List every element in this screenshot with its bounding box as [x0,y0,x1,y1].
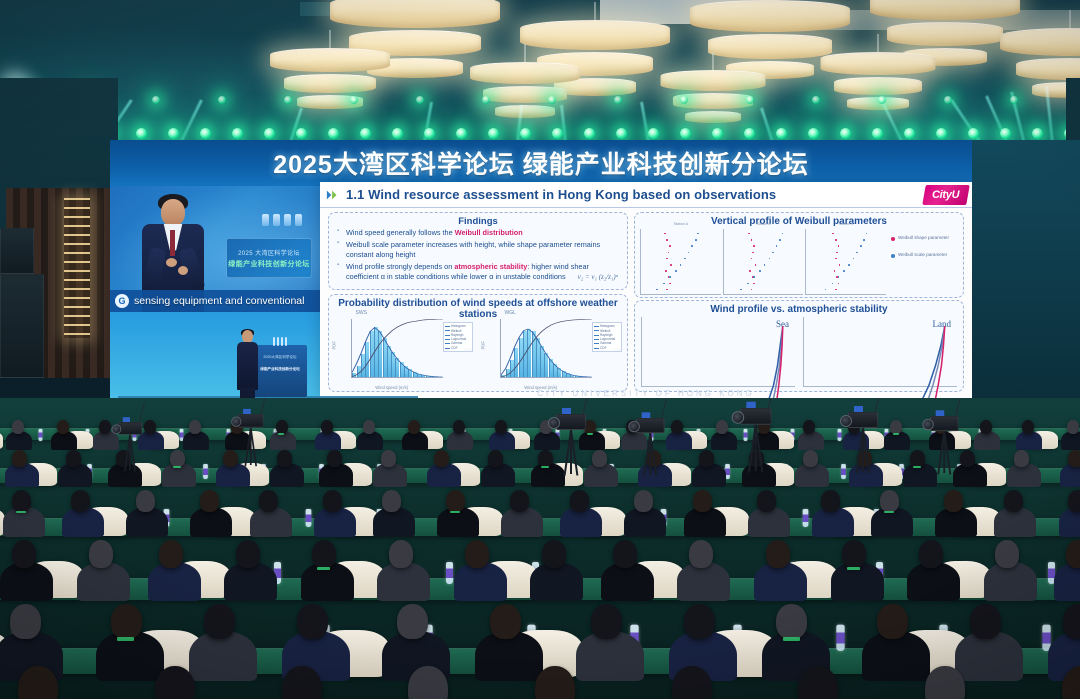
audience-head [919,540,943,568]
audience-head [12,450,27,467]
right-wall-panel [972,140,1080,402]
lanyard [913,466,921,468]
led-spot [520,128,531,139]
audience-head [189,420,201,434]
led-spot [284,96,292,104]
audience-head [276,420,288,434]
led-spot [296,128,307,139]
legend-marker-icon [891,254,895,258]
led-spot [680,96,688,104]
vprofile-subplot: Station C [805,229,886,295]
audience-head [99,420,111,434]
camera-body [740,408,772,425]
tripod-leg [943,431,945,473]
led-spot [482,96,490,104]
podium-microphones [273,337,287,346]
led-spot [232,128,243,139]
wind-shear-formula: v₂ = v₁ (z₂/z₁)ᵅ [578,272,619,282]
audience-head [1066,540,1080,568]
findings-title: Findings [329,216,627,227]
audience-head [877,604,908,639]
camera-channel-tag [854,406,863,412]
audience-head [297,604,328,639]
camera-lens-icon [231,417,241,427]
led-spot [584,128,595,139]
feed-forum-badge: 2025 大湾区科学论坛 绿能产业科技创新分论坛 [226,238,312,278]
feed-caption-text: sensing equipment and conventional [134,295,304,307]
lanyard [450,511,460,513]
tripod-leg [570,430,572,474]
audience-head [200,490,219,512]
data-point [751,258,753,260]
audience-head [980,420,992,434]
legend-marker-icon [891,237,895,241]
bullet-text: Wind speed generally follows the [346,228,455,237]
mic-boom [260,398,267,416]
vprofile-subplot: Station A [640,229,721,295]
data-point [669,283,671,285]
led-spot [264,128,275,139]
lanyard [847,567,860,570]
windstab-subplot-land: Land [803,317,957,387]
audience-head [1063,604,1080,639]
legend-line-icon [445,348,450,349]
camera-lens-icon [548,417,560,429]
led-spot [1032,128,1043,139]
led-spot [552,128,563,139]
audience-head [490,604,521,639]
led-spot [878,96,886,104]
audience-head [495,420,507,434]
audience-head [1022,420,1034,434]
legend-line-icon [445,343,450,344]
legend-entry: CDF [594,346,620,350]
prob-chart-label: SWS [356,310,367,316]
data-point [747,283,749,285]
led-spot [808,128,819,139]
audience-head [170,450,185,467]
mic-boom [139,402,145,424]
data-point [697,233,699,235]
data-point [834,270,836,272]
prob-chart-legend: HistogramWeibullRayleighLognormalGammaCD… [443,322,473,352]
camera-channel-tag [562,408,571,414]
led-spot [200,128,211,139]
audience-head [223,450,238,467]
audience-area [0,398,1080,699]
stage-speaker-torso [237,342,258,390]
vprofile-subplot: Station B [723,229,804,295]
audience-head [570,490,589,512]
data-point [664,233,666,235]
led-spot [968,128,979,139]
audience-head [321,420,333,434]
audience-head [282,666,322,699]
camera-channel-tag [746,402,755,408]
audience-head [591,604,622,639]
lanyard [783,637,800,641]
led-spot [350,96,358,104]
data-point [669,245,671,247]
data-point [748,233,750,235]
led-spot [1000,128,1011,139]
led-spot [614,96,622,104]
led-spot [392,128,403,139]
data-point [832,283,834,285]
data-point [772,252,774,254]
data-point [668,252,670,254]
findings-bullet-1: Wind speed generally follows the Weibull… [337,228,621,239]
lanyard [173,466,181,468]
audience-head [766,540,790,568]
audience-head [312,540,336,568]
data-point [666,258,668,260]
windstab-title: Wind profile vs. atmospheric stability [635,304,963,315]
windstab-subplot-sea: Sea [641,317,795,387]
bullet-text: Weibull scale parameter increases with h… [346,240,600,260]
camera-body [930,416,959,431]
camera-lens-icon [922,419,933,430]
led-spot [812,96,820,104]
data-point [753,245,755,247]
wind-stability-panel: Wind profile vs. atmospheric stability S… [634,300,964,392]
vertical-profile-panel: Vertical profile of Weibull parameters S… [634,212,964,298]
camera-channel-tag [642,412,651,418]
vprofile-subplots: Station A Station B Station C [639,229,887,295]
lanyard [317,567,330,570]
mic-boom [661,398,669,420]
led-spot [456,128,467,139]
led-spot [152,96,160,104]
audience-head [144,420,156,434]
vprofile-subplot-title: Station B [756,222,771,226]
audience-head [236,540,260,568]
led-spot [616,128,627,139]
findings-list: Wind speed generally follows the Weibull… [337,228,621,283]
data-point [848,264,850,266]
data-point [843,270,845,272]
data-point [835,258,837,260]
data-point [675,270,677,272]
data-point [680,264,682,266]
audience-head [584,420,596,434]
audience-head [671,420,683,434]
legend-line-icon [594,326,599,327]
video-feed-left: 2025 大湾区科学论坛 绿能产业科技创新分论坛 G sensing equip… [110,186,320,312]
audience-head [1067,420,1079,434]
camera-channel-tag [123,417,130,422]
data-point [749,270,751,272]
audience-head [960,450,975,467]
data-point [666,289,668,291]
speaker-head [161,199,185,226]
legend-entry-scale: Weibull scale parameter [891,252,959,259]
audience-head [381,450,396,467]
prob-chart-ylabel: PDF [332,341,337,349]
data-point [740,289,742,291]
audience-head [1014,450,1029,467]
audience-head [259,490,278,512]
data-point [782,233,784,235]
tripod-leg [129,435,130,470]
speaker-hand-right [178,266,188,275]
findings-bullet-2: Weibull scale parameter increases with h… [337,240,621,261]
legend-line-icon [445,339,450,340]
camera-lens-icon [112,424,122,434]
legend-label: Weibull shape parameter [898,235,949,242]
prob-curves [352,319,443,377]
lanyard [587,433,593,435]
camera-body [636,418,665,433]
podium: 2025大湾区科学论坛 绿能产业科技创新分论坛 [253,345,307,397]
audience-head [970,604,1001,639]
audience-head [327,450,342,467]
data-point [853,258,855,260]
data-point [776,245,778,247]
audience-head [71,490,90,512]
data-point [838,245,840,247]
data-point [755,264,757,266]
led-spot [136,128,147,139]
camera-body [238,414,264,428]
findings-panel: Findings Wind speed generally follows th… [328,212,628,290]
feed-badge-line2: 绿能产业科技创新分论坛 [228,259,309,269]
lanyard [541,466,549,468]
lanyard [16,511,26,513]
speaker-stack [0,274,44,378]
tripod-leg [250,428,251,465]
data-point [663,283,665,285]
bullet-text: Wind profile strongly depends on [346,262,454,271]
led-spot [360,128,371,139]
prob-chart-pair: SWS PDF CDF Wind speed (m/s) HistogramWe… [329,311,627,391]
led-spot [872,128,883,139]
data-point [688,252,690,254]
conference-photo-scene: 2025大湾区科学论坛 绿能产业科技创新分论坛 2025 大湾区科学论坛 [0,0,1080,699]
audience-head [634,490,653,512]
prob-chart-plot [500,319,592,378]
audience-head [776,604,807,639]
camera-channel-tag [243,409,251,414]
speaker-hand-left [166,258,177,267]
led-spot [424,128,435,139]
data-point [838,283,840,285]
data-point [835,239,837,241]
vprofile-legend: Weibull shape parameter Weibull scale pa… [891,235,959,269]
left-wall [0,78,118,368]
tripod-leg [755,425,757,471]
data-point [764,264,766,266]
feed-badge-line1: 2025 大湾区科学论坛 [238,248,300,257]
legend-line-icon [594,348,599,349]
audience-head [204,604,235,639]
lanyard [117,637,134,641]
audience-head [542,540,566,568]
prob-chart-plot [351,319,443,378]
data-point [695,239,697,241]
data-point [753,283,755,285]
audience-head [538,450,553,467]
mic-boom [955,398,963,418]
audience-head [693,490,712,512]
data-point [684,258,686,260]
sea-profile-curves [642,317,795,400]
probability-distribution-panel: Probability distribution of wind speeds … [328,294,628,392]
audience-head [363,420,375,434]
legend-entry: CDF [445,346,471,350]
led-spot [744,128,755,139]
water-bottle [841,464,846,479]
legend-line-icon [445,326,450,327]
prob-curves [501,319,592,377]
audience-head [111,604,142,639]
audience-head [57,420,69,434]
audience-head [880,490,899,512]
led-spot [944,96,952,104]
led-spot [712,128,723,139]
broadcaster-logo-icon: G [115,294,129,308]
feed-caption-left: G sensing equipment and conventional [110,290,320,312]
data-point [670,264,672,266]
audience-head [944,490,963,512]
camera-body [118,422,142,435]
camera-lens-icon [840,415,852,427]
data-point [779,239,781,241]
audience-head [10,604,41,639]
bullet-arrows-icon [326,188,340,202]
audience-head [716,420,728,434]
water-bottle [744,429,748,441]
legend-line-icon [594,330,599,331]
lanyard [893,433,899,435]
audience-head [12,490,31,512]
audience-head [842,540,866,568]
audience-head [389,540,413,568]
legend-label: CDF [600,346,607,350]
audience-head [89,540,113,568]
data-point [769,258,771,260]
led-spot [328,128,339,139]
audience-head [890,420,902,434]
led-spot [218,96,226,104]
water-bottle [203,464,208,479]
led-spot [904,128,915,139]
vprofile-subplot-title: Station A [674,222,688,226]
led-spot [648,128,659,139]
data-point [753,276,755,278]
led-spot [168,128,179,139]
data-point [825,289,827,291]
speaker-tie [170,230,175,256]
audience-head [803,420,815,434]
data-point [835,289,837,291]
audience-head [323,490,342,512]
led-spot [746,96,754,104]
data-point [665,270,667,272]
data-point [669,276,671,278]
audience-head [757,490,776,512]
audience-head [821,490,840,512]
slide-header: 1.1 Wind resource assessment in Hong Kon… [320,182,972,208]
data-point [752,252,754,254]
mic-boom [767,398,776,410]
slide-title: 1.1 Wind resource assessment in Hong Kon… [346,187,776,202]
water-bottle [838,429,842,441]
audience-head [453,420,465,434]
audience-head [397,604,428,639]
water-bottle [446,562,453,584]
led-spot [1010,96,1018,104]
mic-boom [582,398,590,416]
audience-head [684,604,715,639]
mic-boom [874,398,882,414]
audience-head [1068,450,1080,467]
audience-head [12,420,24,434]
legend-label: CDF [451,346,458,350]
camera-channel-tag [936,410,945,416]
data-point [863,239,865,241]
podium-label-line2: 绿能产业科技创新分论坛 [256,367,304,372]
data-point [832,233,834,235]
audience-head [465,540,489,568]
tripod-leg [649,433,651,475]
led-spot [776,128,787,139]
led-spot [488,128,499,139]
bullet-highlight: atmospheric stability [454,262,527,271]
presentation-slide: 1.1 Wind resource assessment in Hong Kon… [320,182,972,400]
windstab-subplots: Sea Land [641,317,957,387]
prob-chart-label: WGL [505,310,516,316]
audience-head [1068,490,1080,512]
audience-head [510,490,529,512]
data-point [759,270,761,272]
audience-head [910,450,925,467]
prob-chart-legend: HistogramWeibullRayleighLognormalGammaCD… [592,322,622,352]
camera-lens-icon [732,411,745,424]
bullet-highlight: Weibull distribution [455,228,523,237]
audience-head [408,420,420,434]
camera-body [556,414,586,430]
audience-head [277,450,292,467]
lanyard [884,511,894,513]
data-point [751,289,753,291]
legend-line-icon [594,335,599,336]
prob-chart-sws: SWS PDF CDF Wind speed (m/s) HistogramWe… [333,311,474,391]
audience-head [488,450,503,467]
audience-head [136,490,155,512]
feed-decor-bars [262,214,302,226]
audience-head [689,540,713,568]
data-point [666,239,668,241]
camera-lens-icon [628,421,639,432]
data-point [691,245,693,247]
data-point [866,233,868,235]
audience-head [66,450,81,467]
speaker-stack [0,228,34,274]
cityu-logo: CityU [922,185,970,205]
legend-line-icon [445,330,450,331]
legend-line-icon [594,343,599,344]
vprofile-subplot-title: Station C [839,222,854,226]
data-point [860,245,862,247]
audience-head [12,540,36,568]
land-profile-curves [804,317,957,400]
legend-label: Weibull scale parameter [898,252,947,259]
audience-head [613,540,637,568]
led-spot [416,96,424,104]
data-point [656,289,658,291]
audience-head [995,540,1019,568]
